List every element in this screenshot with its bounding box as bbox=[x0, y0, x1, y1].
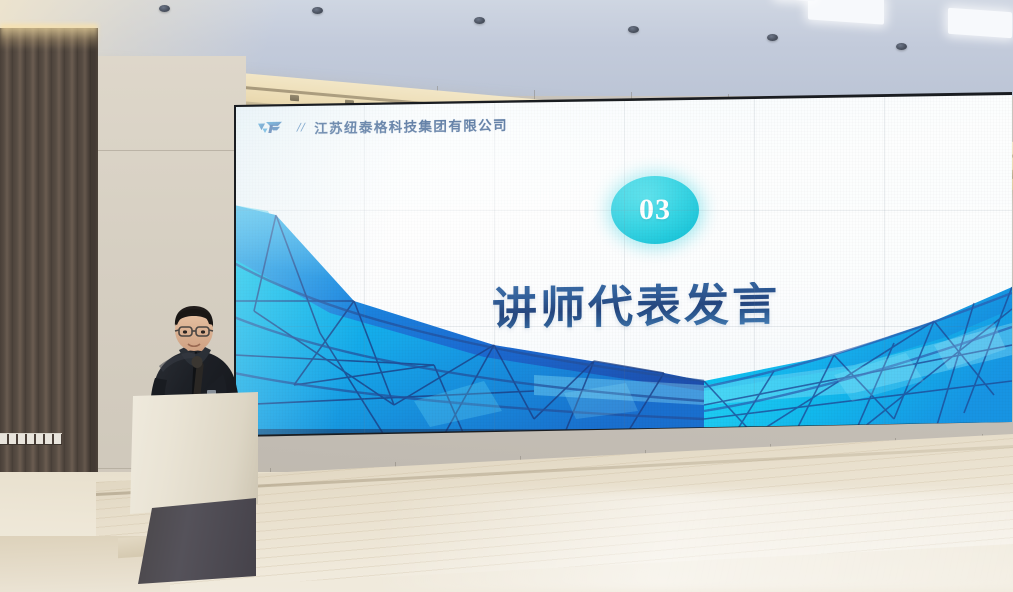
track-light-head bbox=[290, 95, 299, 102]
ceiling-downlight bbox=[628, 26, 639, 33]
conference-hall-photo: // 江苏纽泰格科技集团有限公司 03 讲师代表发言 bbox=[0, 0, 1013, 592]
slide-title: 讲师代表发言 bbox=[492, 281, 780, 331]
ceiling-downlight bbox=[159, 5, 170, 12]
led-panel-seam bbox=[234, 210, 1012, 211]
brand-separator: // bbox=[297, 119, 305, 135]
ceiling-downlight bbox=[896, 43, 907, 50]
ceiling-downlight bbox=[474, 17, 485, 24]
wall-vent-grille bbox=[0, 433, 62, 445]
niutaige-brand-logo-icon bbox=[258, 120, 288, 137]
company-name: 江苏纽泰格科技集团有限公司 bbox=[314, 114, 508, 137]
slat-wall-cove-glow bbox=[0, 24, 98, 50]
led-wall-screen[interactable]: // 江苏纽泰格科技集团有限公司 03 讲师代表发言 bbox=[234, 94, 1012, 435]
lectern bbox=[130, 392, 258, 582]
led-panel-seam bbox=[234, 326, 1012, 327]
slide-header: // 江苏纽泰格科技集团有限公司 bbox=[258, 114, 508, 138]
stage-floor-reflection bbox=[380, 492, 1013, 592]
lectern-base bbox=[138, 498, 256, 584]
ceiling-downlight bbox=[767, 34, 778, 41]
slide-canvas: // 江苏纽泰格科技集团有限公司 03 讲师代表发言 bbox=[234, 94, 1012, 435]
led-panel-seam bbox=[364, 94, 365, 435]
wall-horizontal-seam bbox=[96, 150, 246, 151]
led-panel-seam bbox=[754, 94, 755, 435]
lectern-body bbox=[130, 392, 258, 514]
led-panel-seam bbox=[884, 94, 885, 435]
ceiling-panel-light bbox=[948, 8, 1012, 38]
ceiling-downlight bbox=[312, 7, 323, 14]
led-panel-seam bbox=[624, 94, 625, 435]
led-panel-seam bbox=[494, 94, 495, 435]
